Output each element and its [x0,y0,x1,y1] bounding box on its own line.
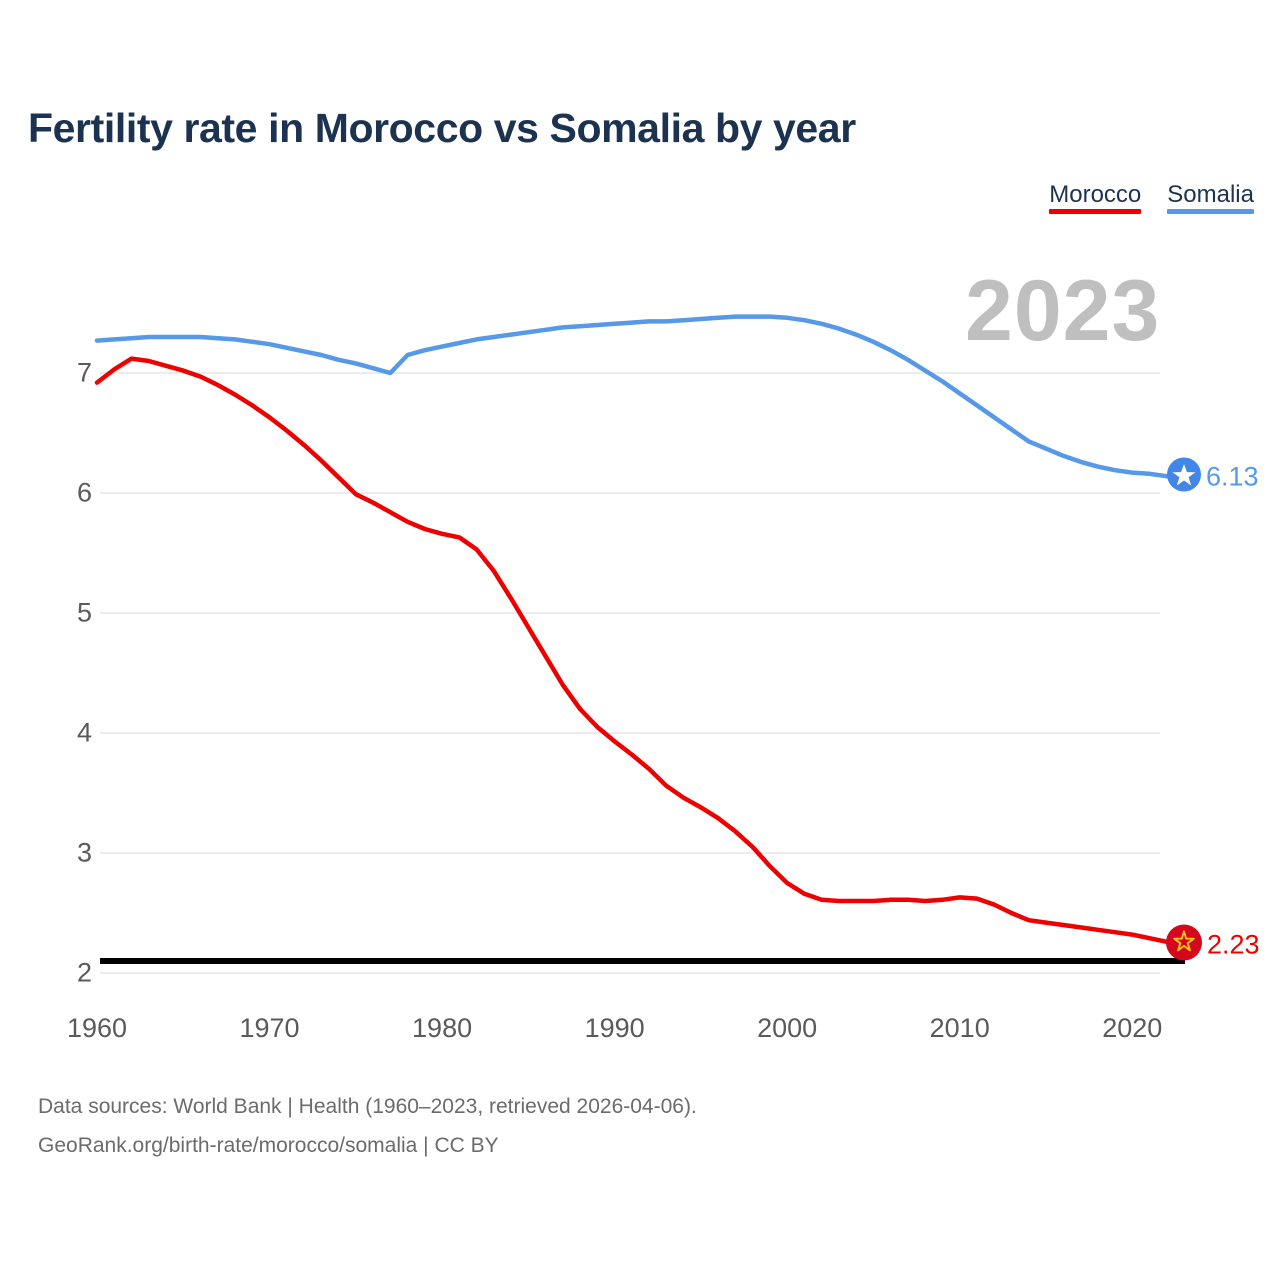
y-tick-6: 6 [52,478,92,509]
y-tick-3: 3 [52,838,92,869]
morocco-endpoint-marker[interactable] [1166,925,1202,966]
somalia-flag-star-icon [1167,458,1201,492]
x-tick-1990: 1990 [585,1013,645,1044]
y-tick-5: 5 [52,598,92,629]
x-tick-2020: 2020 [1102,1013,1162,1044]
x-tick-1970: 1970 [239,1013,299,1044]
y-tick-2: 2 [52,958,92,989]
morocco-endpoint-value: 2.23 [1207,930,1260,961]
x-tick-2010: 2010 [930,1013,990,1044]
x-tick-2000: 2000 [757,1013,817,1044]
gridlines [100,373,1160,973]
y-tick-7: 7 [52,358,92,389]
y-tick-4: 4 [52,718,92,749]
somalia-endpoint-value: 6.13 [1206,462,1259,493]
series-line-morocco [97,359,1184,946]
footer-line-url: GeoRank.org/birth-rate/morocco/somalia |… [38,1127,697,1166]
footer-attribution: Data sources: World Bank | Health (1960–… [38,1088,697,1166]
footer-line-sources: Data sources: World Bank | Health (1960–… [38,1088,697,1127]
somalia-endpoint-marker[interactable] [1167,458,1201,497]
morocco-flag-star-icon [1166,925,1202,961]
x-tick-1960: 1960 [67,1013,127,1044]
chart-container: Fertility rate in Morocco vs Somalia by … [0,0,1280,1280]
series-line-somalia [97,317,1184,478]
x-tick-1980: 1980 [412,1013,472,1044]
